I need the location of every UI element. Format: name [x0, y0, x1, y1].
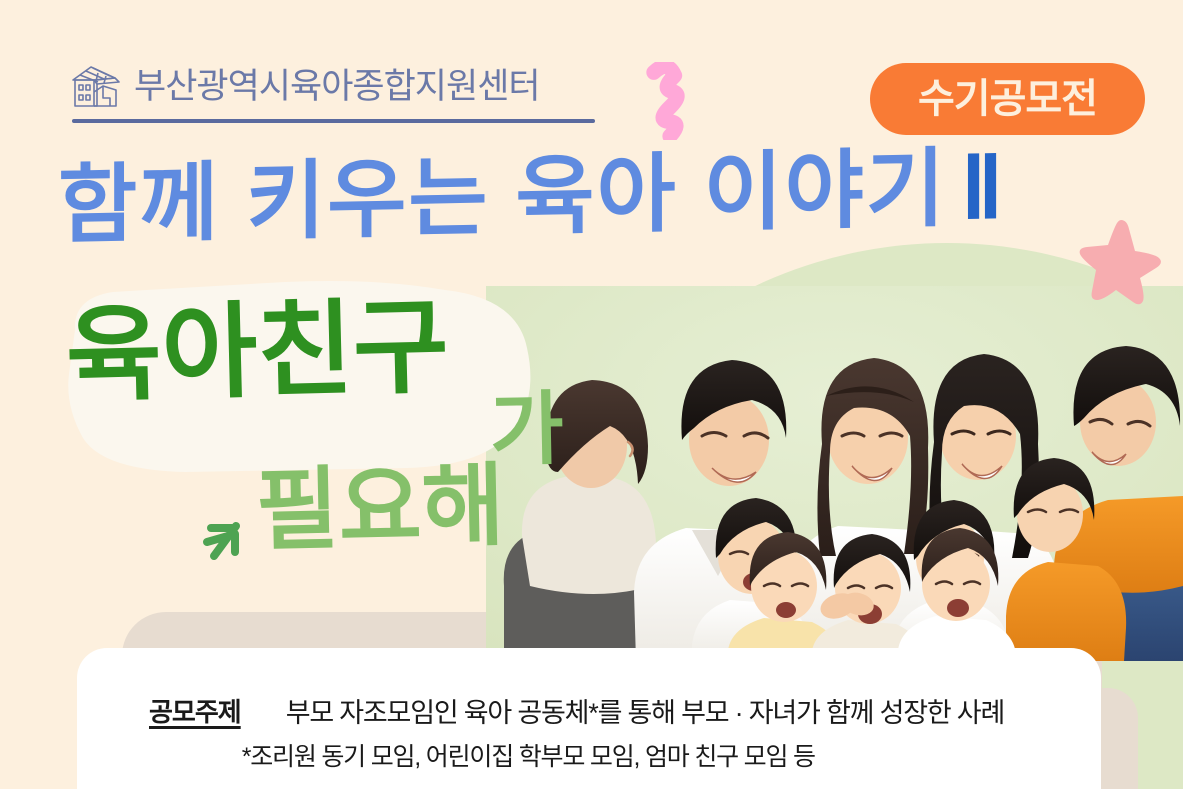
topic-row: 공모주제 부모 자조모임인 육아 공동체*를 통해 부모 · 자녀가 함께 성장…: [77, 696, 1101, 775]
contest-badge: 수기공모전: [870, 63, 1145, 135]
main-title-numeral: Ⅱ: [961, 140, 1001, 237]
header-underline: [72, 119, 595, 123]
topic-card: 공모주제 부모 자조모임인 육아 공동체*를 통해 부모 · 자녀가 함께 성장…: [77, 648, 1101, 789]
header: 부산광역시육아종합지원센터: [70, 62, 540, 110]
green-sprout-icon: [196, 512, 254, 568]
main-title-line3: 필요해: [255, 461, 505, 556]
organization-name: 부산광역시육아종합지원센터: [134, 69, 540, 104]
family-photo: [486, 286, 1183, 661]
main-title-line1: 함께 키우는 육아 이야기Ⅱ: [58, 139, 1001, 256]
topic-text-group: 부모 자조모임인 육아 공동체*를 통해 부모 · 자녀가 함께 성장한 사례 …: [286, 696, 1004, 775]
topic-note-text: *조리원 동기 모임, 어린이집 학부모 모임, 엄마 친구 모임 등: [242, 741, 1004, 775]
pink-squiggle-icon: [640, 62, 740, 140]
topic-label: 공모주제: [149, 696, 241, 730]
main-title-line1-text: 함께 키우는 육아 이야기: [58, 141, 947, 254]
poster-root: 부산광역시육아종합지원센터 수기공모전 함께 키우는 육아 이야기Ⅱ 육아친구 …: [0, 0, 1183, 789]
main-title-line2: 육아친구: [65, 295, 450, 408]
topic-main-text: 부모 자조모임인 육아 공동체*를 통해 부모 · 자녀가 함께 성장한 사례: [286, 696, 1004, 731]
contest-badge-label: 수기공모전: [918, 79, 1097, 119]
house-icon: [70, 62, 124, 110]
pink-star-icon: [1074, 214, 1166, 306]
